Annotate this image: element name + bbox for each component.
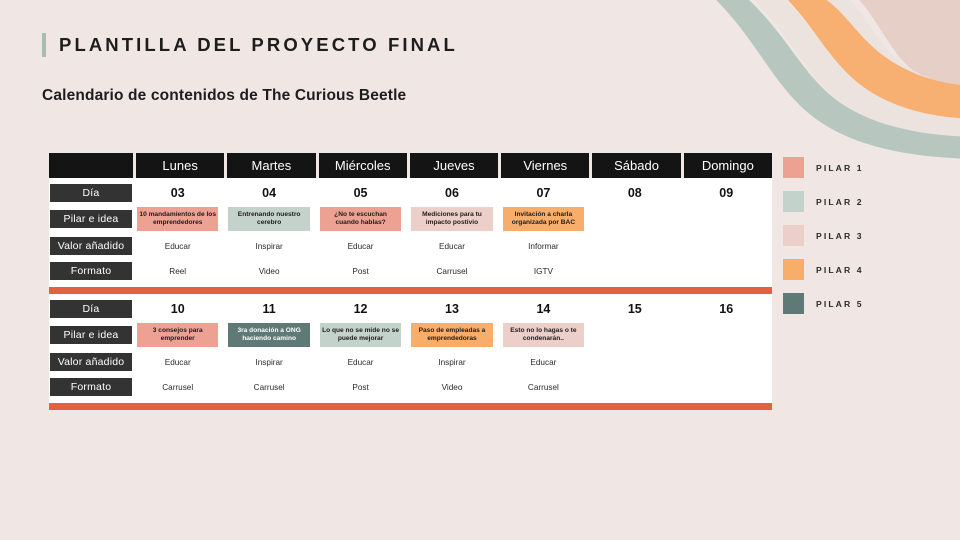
week2-formato-row: Formato Carrusel Carrusel Post Video Car… — [49, 376, 772, 398]
weekday-header-martes[interactable]: Martes — [227, 153, 315, 178]
pillar-legend: PILAR 1 PILAR 2 PILAR 3 PILAR 4 PILAR 5 — [783, 157, 864, 314]
week1-valor-2[interactable]: Educar — [315, 242, 406, 251]
week1-valor-0[interactable]: Educar — [132, 242, 223, 251]
title-accent-bar — [42, 33, 46, 57]
weekday-header-domingo[interactable]: Domingo — [684, 153, 772, 178]
row-label-formato-week1: Formato — [50, 262, 132, 280]
idea-chip[interactable]: Invitación a charla organizada por BAC — [503, 207, 584, 232]
week2-dia-3[interactable]: 13 — [406, 302, 497, 316]
row-label-pilar-week1: Pilar e idea — [50, 210, 132, 228]
content-calendar: Lunes Martes Miércoles Jueves Viernes Sá… — [49, 153, 772, 410]
week2-dia-5[interactable]: 15 — [589, 302, 680, 316]
row-label-valor-week2: Valor añadido — [50, 353, 132, 371]
idea-chip[interactable]: 3ra donación a ONG haciendo camino — [228, 323, 309, 348]
slide-canvas: PLANTILLA DEL PROYECTO FINAL Calendario … — [0, 0, 960, 540]
subtitle: Calendario de contenidos de The Curious … — [42, 87, 406, 105]
week1-idea-cell-1[interactable]: Entrenando nuestro cerebro — [223, 207, 314, 232]
legend-swatch-icon — [783, 293, 804, 314]
week1-dia-0[interactable]: 03 — [132, 186, 223, 200]
week1-dia-5[interactable]: 08 — [589, 186, 680, 200]
week2-valor-2[interactable]: Educar — [315, 358, 406, 367]
week2-valor-0[interactable]: Educar — [132, 358, 223, 367]
legend-label: PILAR 2 — [816, 197, 864, 207]
idea-chip[interactable]: 3 consejos para emprender — [137, 323, 218, 348]
idea-chip[interactable] — [594, 207, 675, 231]
legend-swatch-icon — [783, 157, 804, 178]
week2-idea-cell-2[interactable]: Lo que no se mide no se puede mejorar — [315, 323, 406, 348]
week2-formato-0[interactable]: Carrusel — [132, 383, 223, 392]
week1-dia-row: Día 03 04 05 06 07 08 09 — [49, 182, 772, 204]
week1-idea-row: Pilar e idea 10 mandamientos de los empr… — [49, 206, 772, 232]
week2-idea-cell-6[interactable] — [681, 323, 772, 347]
idea-chip[interactable] — [686, 207, 767, 231]
week2-formato-4[interactable]: Carrusel — [498, 383, 589, 392]
week1-formato-4[interactable]: IGTV — [498, 267, 589, 276]
wave-band-orange — [778, 0, 960, 121]
idea-chip[interactable]: Esto no lo hagas o te condenarán.. — [503, 323, 584, 348]
idea-chip[interactable]: Lo que no se mide no se puede mejorar — [320, 323, 401, 348]
idea-chip[interactable] — [594, 323, 675, 347]
weekday-header-sabado[interactable]: Sábado — [592, 153, 680, 178]
week2-idea-row: Pilar e idea 3 consejos para emprender 3… — [49, 322, 772, 348]
week1-dia-3[interactable]: 06 — [406, 186, 497, 200]
wave-band-beige-inner — [744, 0, 960, 139]
week1-valor-row: Valor añadido Educar Inspirar Educar Edu… — [49, 235, 772, 257]
legend-item-pilar-3[interactable]: PILAR 3 — [783, 225, 864, 246]
week2-dia-row: Día 10 11 12 13 14 15 16 — [49, 298, 772, 320]
week2-idea-cell-0[interactable]: 3 consejos para emprender — [132, 323, 223, 348]
legend-item-pilar-1[interactable]: PILAR 1 — [783, 157, 864, 178]
week1-formato-2[interactable]: Post — [315, 267, 406, 276]
week1-dia-4[interactable]: 07 — [498, 186, 589, 200]
weekday-header-viernes[interactable]: Viernes — [501, 153, 589, 178]
week1-dia-6[interactable]: 09 — [681, 186, 772, 200]
header-block: PLANTILLA DEL PROYECTO FINAL — [42, 33, 458, 57]
decorative-waves — [700, 0, 960, 170]
week2-valor-3[interactable]: Inspirar — [406, 358, 497, 367]
week2-formato-2[interactable]: Post — [315, 383, 406, 392]
weekday-header-miercoles[interactable]: Miércoles — [319, 153, 407, 178]
legend-item-pilar-4[interactable]: PILAR 4 — [783, 259, 864, 280]
idea-chip[interactable]: 10 mandamientos de los emprendedores — [137, 207, 218, 232]
row-label-pilar-week2: Pilar e idea — [50, 326, 132, 344]
header-corner-blank — [49, 153, 133, 178]
week1-idea-cell-5[interactable] — [589, 207, 680, 231]
week2-valor-4[interactable]: Educar — [498, 358, 589, 367]
week1-formato-0[interactable]: Reel — [132, 267, 223, 276]
week2-valor-row: Valor añadido Educar Inspirar Educar Ins… — [49, 351, 772, 373]
week1-idea-cell-4[interactable]: Invitación a charla organizada por BAC — [498, 207, 589, 232]
title-row: PLANTILLA DEL PROYECTO FINAL — [42, 33, 458, 57]
wave-band-beige-outer — [818, 0, 960, 104]
week2-dia-1[interactable]: 11 — [223, 302, 314, 316]
legend-item-pilar-5[interactable]: PILAR 5 — [783, 293, 864, 314]
wave-band-green — [706, 0, 960, 159]
idea-chip[interactable] — [686, 323, 767, 347]
legend-label: PILAR 3 — [816, 231, 864, 241]
week2-idea-cell-4[interactable]: Esto no lo hagas o te condenarán.. — [498, 323, 589, 348]
weekday-header-jueves[interactable]: Jueves — [410, 153, 498, 178]
week2-idea-cell-1[interactable]: 3ra donación a ONG haciendo camino — [223, 323, 314, 348]
legend-label: PILAR 4 — [816, 265, 864, 275]
idea-chip[interactable]: ¿No te escuchan cuando hablas? — [320, 207, 401, 232]
week1-formato-1[interactable]: Video — [223, 267, 314, 276]
week2-idea-cell-5[interactable] — [589, 323, 680, 347]
legend-swatch-icon — [783, 259, 804, 280]
idea-chip[interactable]: Paso de empleadas a emprendedoras — [411, 323, 492, 348]
week2-dia-0[interactable]: 10 — [132, 302, 223, 316]
week2-formato-3[interactable]: Video — [406, 383, 497, 392]
week2-dia-6[interactable]: 16 — [681, 302, 772, 316]
week1-formato-3[interactable]: Carrusel — [406, 267, 497, 276]
week-separator-bar-2 — [49, 403, 772, 410]
week1-valor-1[interactable]: Inspirar — [223, 242, 314, 251]
week1-formato-row: Formato Reel Video Post Carrusel IGTV — [49, 260, 772, 282]
legend-label: PILAR 5 — [816, 299, 864, 309]
legend-item-pilar-2[interactable]: PILAR 2 — [783, 191, 864, 212]
week1-dia-1[interactable]: 04 — [223, 186, 314, 200]
idea-chip[interactable]: Mediciones para tu impacto postivio — [411, 207, 492, 232]
week-panel-1: Día 03 04 05 06 07 08 09 Pilar e idea 10… — [49, 178, 772, 287]
week1-dia-2[interactable]: 05 — [315, 186, 406, 200]
legend-label: PILAR 1 — [816, 163, 864, 173]
weekday-header-lunes[interactable]: Lunes — [136, 153, 224, 178]
week1-valor-4[interactable]: Informar — [498, 242, 589, 251]
row-label-dia-week1: Día — [50, 184, 132, 202]
week1-idea-cell-2[interactable]: ¿No te escuchan cuando hablas? — [315, 207, 406, 232]
weekday-header-row: Lunes Martes Miércoles Jueves Viernes Sá… — [49, 153, 772, 178]
week2-dia-4[interactable]: 14 — [498, 302, 589, 316]
week1-idea-cell-0[interactable]: 10 mandamientos de los emprendedores — [132, 207, 223, 232]
week2-valor-1[interactable]: Inspirar — [223, 358, 314, 367]
row-label-valor-week1: Valor añadido — [50, 237, 132, 255]
week-separator-bar-1 — [49, 287, 772, 294]
legend-swatch-icon — [783, 191, 804, 212]
legend-swatch-icon — [783, 225, 804, 246]
idea-chip[interactable]: Entrenando nuestro cerebro — [228, 207, 309, 232]
week1-valor-3[interactable]: Educar — [406, 242, 497, 251]
row-label-formato-week2: Formato — [50, 378, 132, 396]
week-panel-2: Día 10 11 12 13 14 15 16 Pilar e idea 3 … — [49, 294, 772, 403]
page-title: PLANTILLA DEL PROYECTO FINAL — [59, 34, 458, 56]
row-label-dia-week2: Día — [50, 300, 132, 318]
week1-idea-cell-3[interactable]: Mediciones para tu impacto postivio — [406, 207, 497, 232]
week2-formato-1[interactable]: Carrusel — [223, 383, 314, 392]
week2-idea-cell-3[interactable]: Paso de empleadas a emprendedoras — [406, 323, 497, 348]
wave-band-pink — [850, 0, 960, 93]
week1-idea-cell-6[interactable] — [681, 207, 772, 231]
week2-dia-2[interactable]: 12 — [315, 302, 406, 316]
